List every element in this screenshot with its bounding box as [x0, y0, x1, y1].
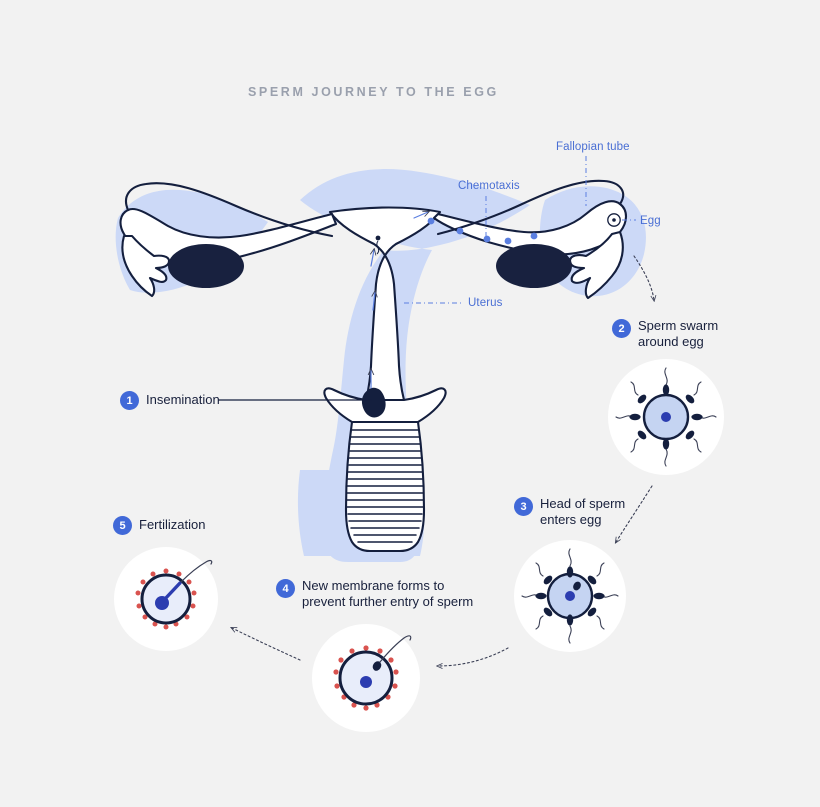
step-1-badge: 1 — [120, 391, 139, 410]
step-4[interactable]: 4 New membrane forms to prevent further … — [276, 578, 473, 609]
step-5-badge: 5 — [113, 516, 132, 535]
step-2-label: Sperm swarm around egg — [638, 318, 718, 349]
step-3-label: Head of sperm enters egg — [540, 496, 625, 527]
step-4-label: New membrane forms to prevent further en… — [302, 578, 473, 609]
step-4-badge: 4 — [276, 579, 295, 598]
label-chemotaxis: Chemotaxis — [458, 180, 520, 192]
label-fallopian-tube: Fallopian tube — [556, 141, 630, 153]
stage-4-circle — [312, 624, 420, 732]
stage-3-circle — [514, 540, 626, 652]
step-1[interactable]: 1 Insemination — [120, 390, 220, 410]
step-3[interactable]: 3 Head of sperm enters egg — [514, 496, 625, 527]
label-egg: Egg — [640, 215, 661, 227]
label-uterus: Uterus — [468, 297, 502, 309]
step-2-badge: 2 — [612, 319, 631, 338]
step-5[interactable]: 5 Fertilization — [113, 515, 205, 535]
connector-stage4-to-stage5 — [232, 628, 300, 660]
step-2[interactable]: 2 Sperm swarm around egg — [612, 318, 718, 349]
step-3-badge: 3 — [514, 497, 533, 516]
step-5-label: Fertilization — [139, 517, 205, 533]
page-title: SPERM JOURNEY TO THE EGG — [248, 85, 499, 99]
egg-marker — [608, 214, 620, 226]
stage-2-circle — [608, 359, 724, 475]
connector-stage3-to-stage4 — [438, 648, 508, 666]
stage-5-circle — [114, 547, 218, 651]
diagram-canvas: SPERM JOURNEY TO THE EGG Fallopian tube … — [0, 0, 820, 807]
step-1-label: Insemination — [146, 392, 220, 408]
